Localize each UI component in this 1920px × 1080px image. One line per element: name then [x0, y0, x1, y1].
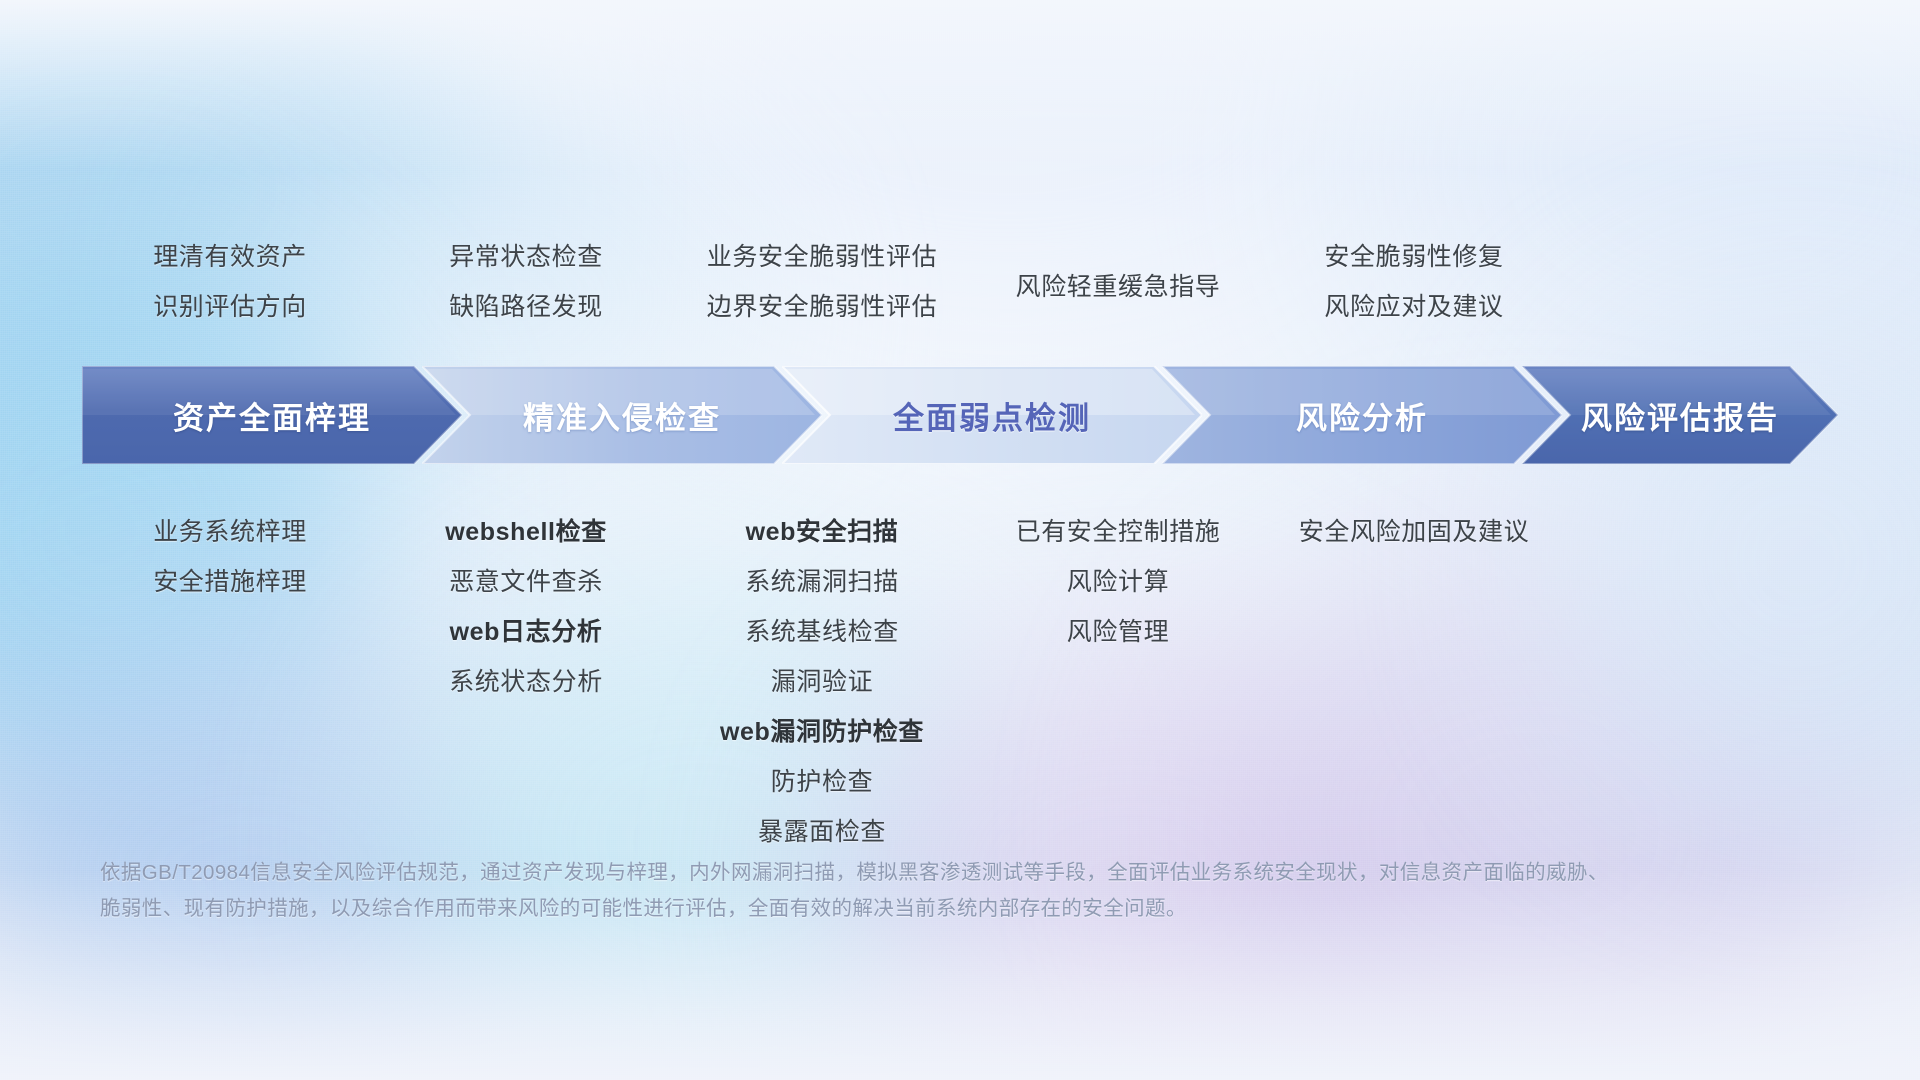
list-item: 已有安全控制措施: [970, 520, 1266, 545]
stage-arrow-3[interactable]: 全面弱点检测: [782, 366, 1202, 464]
list-item: 暴露面检查: [674, 820, 970, 845]
list-item: 安全脆弱性修复: [1266, 245, 1562, 270]
list-item: 风险轻重缓急指导: [970, 275, 1266, 300]
stage-5-outcomes: 安全脆弱性修复 风险应对及建议: [1266, 245, 1562, 320]
slide-canvas: 理清有效资产 识别评估方向 业务系统梓理 安全措施梓理 异常状态检查 缺陷路径发…: [0, 0, 1920, 1080]
list-item: 缺陷路径发现: [378, 295, 674, 320]
list-item: 恶意文件查杀: [378, 570, 674, 595]
stage-1-activities: 业务系统梓理 安全措施梓理: [82, 520, 378, 595]
list-item: 理清有效资产: [82, 245, 378, 270]
list-item: 风险应对及建议: [1266, 295, 1562, 320]
stage-arrow-1[interactable]: 资产全面梓理: [82, 366, 462, 464]
list-item: 安全风险加固及建议: [1266, 520, 1562, 545]
stage-1-outcomes: 理清有效资产 识别评估方向: [82, 245, 378, 320]
list-item: web日志分析: [378, 620, 674, 645]
stage-3-outcomes: 业务安全脆弱性评估 边界安全脆弱性评估: [674, 245, 970, 320]
list-item: webshell检查: [378, 520, 674, 545]
stage-arrow-2[interactable]: 精准入侵检查: [422, 366, 822, 464]
stage-2-activities: webshell检查 恶意文件查杀 web日志分析 系统状态分析: [378, 520, 674, 695]
list-item: 异常状态检查: [378, 245, 674, 270]
list-item: 业务系统梓理: [82, 520, 378, 545]
list-item: 系统基线检查: [674, 620, 970, 645]
list-item: web安全扫描: [674, 520, 970, 545]
list-item: web漏洞防护检查: [674, 720, 970, 745]
stage-arrow-5-label: 风险评估报告: [1522, 366, 1864, 464]
footnote-paragraph: 依据GB/T20984信息安全风险评估规范，通过资产发现与梓理，内外网漏洞扫描，…: [100, 855, 1620, 927]
list-item: 风险计算: [970, 570, 1266, 595]
list-item: 系统漏洞扫描: [674, 570, 970, 595]
stage-3-activities: web安全扫描 系统漏洞扫描 系统基线检查 漏洞验证 web漏洞防护检查 防护检…: [674, 520, 970, 845]
list-item: 业务安全脆弱性评估: [674, 245, 970, 270]
list-item: 防护检查: [674, 770, 970, 795]
list-item: 漏洞验证: [674, 670, 970, 695]
stage-2-outcomes: 异常状态检查 缺陷路径发现: [378, 245, 674, 320]
stage-4-outcomes: 风险轻重缓急指导: [970, 275, 1266, 300]
stage-5-activities: 安全风险加固及建议: [1266, 520, 1562, 545]
list-item: 安全措施梓理: [82, 570, 378, 595]
list-item: 风险管理: [970, 620, 1266, 645]
list-item: 识别评估方向: [82, 295, 378, 320]
process-arrow-band: 资产全面梓理 精准入侵检查: [82, 366, 1838, 464]
list-item: 系统状态分析: [378, 670, 674, 695]
list-item: 边界安全脆弱性评估: [674, 295, 970, 320]
stage-4-activities: 已有安全控制措施 风险计算 风险管理: [970, 520, 1266, 645]
stage-arrow-4[interactable]: 风险分析: [1162, 366, 1562, 464]
stage-arrow-5[interactable]: 风险评估报告: [1522, 366, 1838, 464]
